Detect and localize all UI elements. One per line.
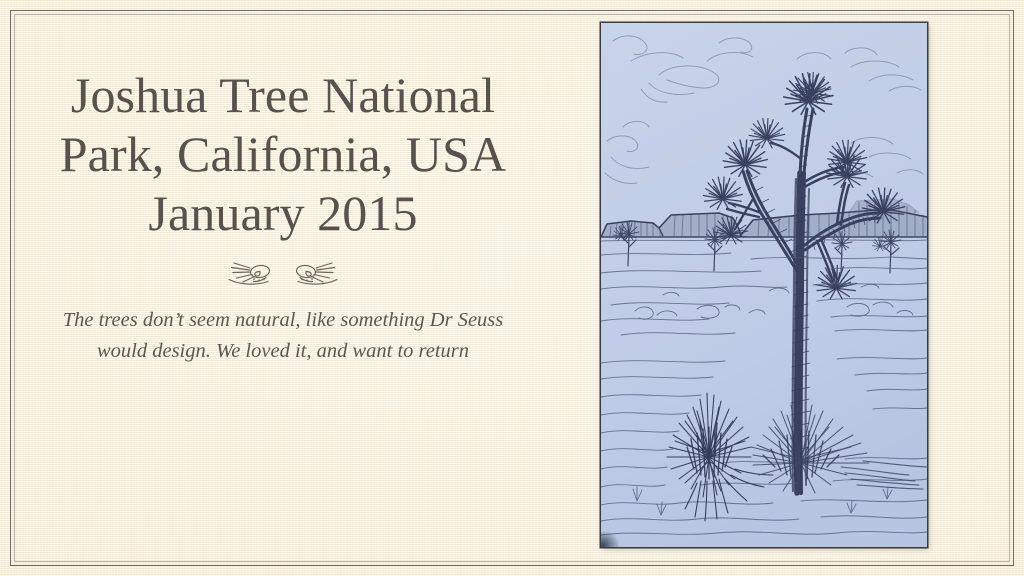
slide-subtitle: The trees don’t seem natural, like somet… <box>48 305 518 367</box>
joshua-tree-sketch-image <box>601 23 927 547</box>
title-line-2: Park, California, USA <box>60 126 507 182</box>
title-line-3: January 2015 <box>148 185 417 241</box>
page-title: Joshua Tree National Park, California, U… <box>38 66 528 243</box>
slide-text-column: Joshua Tree National Park, California, U… <box>38 66 528 367</box>
joshua-tree-sketch-svg <box>601 23 927 547</box>
title-line-1: Joshua Tree National <box>71 67 495 123</box>
ornamental-flourish-divider-icon <box>198 259 368 289</box>
presentation-slide: Joshua Tree National Park, California, U… <box>0 0 1024 576</box>
